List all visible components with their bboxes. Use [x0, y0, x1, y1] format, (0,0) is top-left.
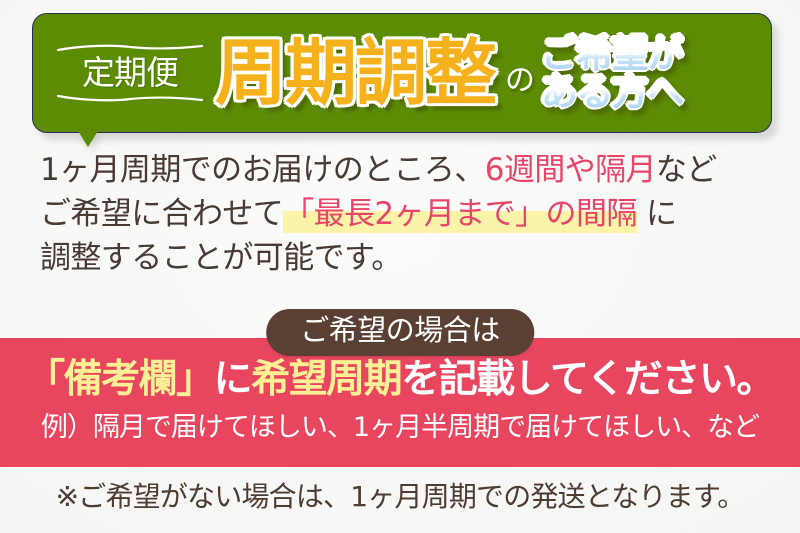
headline-subtext-line2: ある方へ: [541, 74, 683, 112]
body-line-2-part-a: ご希望に合わせて: [40, 196, 283, 232]
body-line-3: 調整することが可能です。: [40, 236, 760, 280]
instruction-desired-cycle: 希望周期: [251, 357, 401, 402]
subscription-badge: 定期便: [55, 44, 205, 102]
body-line-1-part-a: 1ヶ月周期でのお届けのところ、: [40, 152, 485, 188]
instruction-example-text: 例）隔月で届けてほしい、1ヶ月半周期で届けてほしい、など: [0, 414, 800, 441]
body-line-1-part-e: など: [656, 152, 717, 188]
body-paragraph: 1ヶ月周期でのお届けのところ、6週間や隔月など ご希望に合わせて「最長2ヶ月まで…: [0, 148, 800, 280]
banner-tail-pointer: [78, 131, 98, 147]
body-line-1: 1ヶ月周期でのお届けのところ、6週間や隔月など: [40, 148, 760, 192]
request-case-pill: ご希望の場合は: [266, 309, 534, 356]
headline-particle: の: [505, 66, 535, 96]
footer-note: ※ご希望がない場合は、1ヶ月周期での発送となります。: [0, 483, 800, 511]
body-line-1-accent-6weeks: 6週間: [485, 152, 565, 188]
body-line-1-part-c: や: [565, 152, 595, 188]
body-line-2-part-e: に: [637, 196, 677, 232]
instruction-remarks-field: 「備考欄」: [26, 357, 214, 402]
wave-rule-bottom-icon: [55, 93, 205, 102]
instruction-part-d: を記載してください。: [401, 357, 774, 402]
header-banner: 定期便 周期調整 の ご希望が ある方へ: [32, 13, 772, 133]
instruction-band: 「備考欄」に希望周期を記載してください。 例）隔月で届けてほしい、1ヶ月半周期で…: [0, 338, 800, 467]
wave-rule-top-icon: [55, 44, 205, 53]
subscription-badge-label: 定期便: [78, 53, 182, 93]
body-line-2-highlight-interval: 間隔: [576, 196, 637, 233]
headline-subtext-line1: ご希望が: [541, 36, 683, 74]
body-line-2-highlight-maxtwomonths: 「最長2ヶ月まで」: [283, 196, 545, 233]
body-line-2-part-c: の: [546, 196, 576, 233]
instruction-part-b: に: [214, 357, 252, 402]
request-case-pill-label: ご希望の場合は: [300, 315, 500, 347]
header-banner-content: 定期便 周期調整 の ご希望が ある方へ: [33, 14, 771, 132]
headline-main-text: 周期調整: [215, 37, 495, 109]
headline-subtext: ご希望が ある方へ: [541, 36, 683, 111]
body-line-1-accent-bimonthly: 隔月: [595, 152, 656, 188]
instruction-main-text: 「備考欄」に希望周期を記載してください。: [0, 360, 800, 399]
body-line-2: ご希望に合わせて「最長2ヶ月まで」の間隔 に: [40, 192, 760, 236]
promo-banner-page: 定期便 周期調整 の ご希望が ある方へ 1ヶ月周期でのお届けのところ、6週間や…: [0, 0, 800, 533]
